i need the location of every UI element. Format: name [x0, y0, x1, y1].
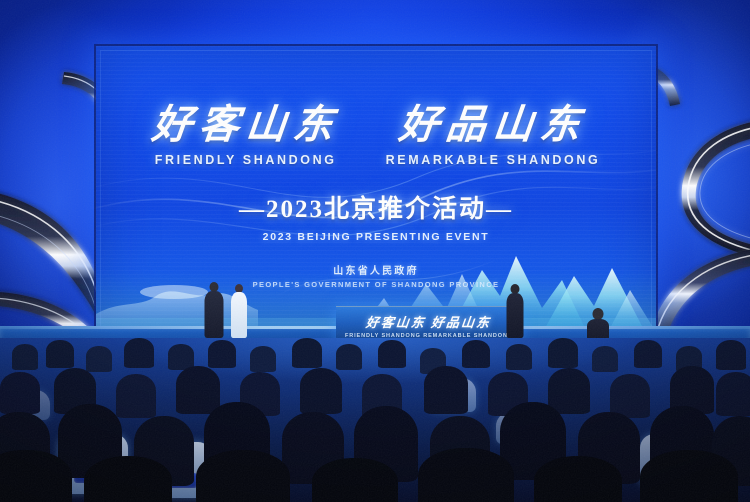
audience-member [124, 338, 154, 368]
audience-member [292, 338, 322, 368]
event-photo: 好客山东 FRIENDLY SHANDONG 好品山东 REMARKABLE S… [0, 0, 750, 502]
audience-member [418, 448, 514, 502]
audience-member [506, 344, 532, 370]
audience-member [46, 340, 74, 368]
stage-person-host-female [229, 284, 249, 338]
audience-member [610, 374, 650, 418]
audience-member [424, 366, 468, 414]
headline-left-en: FRIENDLY SHANDONG [155, 153, 337, 167]
audience-member [208, 340, 236, 368]
audience-member [196, 450, 290, 502]
stage-person-presenter-right [505, 284, 525, 338]
audience-member [592, 346, 618, 372]
audience-member [462, 340, 490, 368]
led-screen: 好客山东 FRIENDLY SHANDONG 好品山东 REMARKABLE S… [96, 46, 656, 334]
audience-area [0, 338, 750, 502]
lectern-banner-cn: 好客山东 好品山东 [365, 312, 492, 331]
ribbon-right-lower-arc [650, 246, 750, 338]
audience-member [116, 374, 156, 418]
audience-member [640, 450, 738, 502]
audience-member [0, 372, 40, 414]
headline-row: 好客山东 FRIENDLY SHANDONG 好品山东 REMARKABLE S… [96, 104, 656, 167]
headline-right-cn: 好品山东 [397, 104, 589, 146]
audience-member [84, 456, 172, 502]
headline-left: 好客山东 FRIENDLY SHANDONG [152, 104, 340, 167]
audience-member [548, 338, 578, 368]
audience-member [548, 368, 590, 414]
audience-member [634, 340, 662, 368]
organizer-en: PEOPLE'S GOVERNMENT OF SHANDONG PROVINCE [96, 280, 656, 289]
audience-member [176, 366, 220, 414]
organizer-cn: 山东省人民政府 [96, 262, 656, 277]
ribbon-right-scurve [682, 118, 750, 262]
organizer-block: 山东省人民政府 PEOPLE'S GOVERNMENT OF SHANDONG … [96, 262, 656, 289]
audience-member [86, 346, 112, 372]
host-male-body [205, 291, 224, 338]
headline-left-cn: 好客山东 [149, 104, 341, 146]
audience-member [716, 372, 750, 416]
audience-member [336, 344, 362, 370]
audience-member [534, 456, 622, 502]
audience-member [12, 344, 38, 370]
stage-person-host-male [203, 282, 225, 338]
host-female-body [231, 292, 247, 338]
presenter-right-body [507, 293, 524, 338]
led-text-block: 好客山东 FRIENDLY SHANDONG 好品山东 REMARKABLE S… [96, 104, 656, 243]
event-title-cn: —2023北京推介活动— [96, 189, 656, 225]
event-title-en: 2023 BEIJING PRESENTING EVENT [96, 231, 656, 243]
headline-right: 好品山东 REMARKABLE SHANDONG [386, 104, 601, 167]
audience-member [716, 340, 746, 370]
audience-member [312, 458, 398, 502]
audience-member [300, 368, 342, 414]
audience-member [378, 340, 406, 368]
audience-member [250, 346, 276, 372]
headline-right-en: REMARKABLE SHANDONG [386, 153, 601, 167]
